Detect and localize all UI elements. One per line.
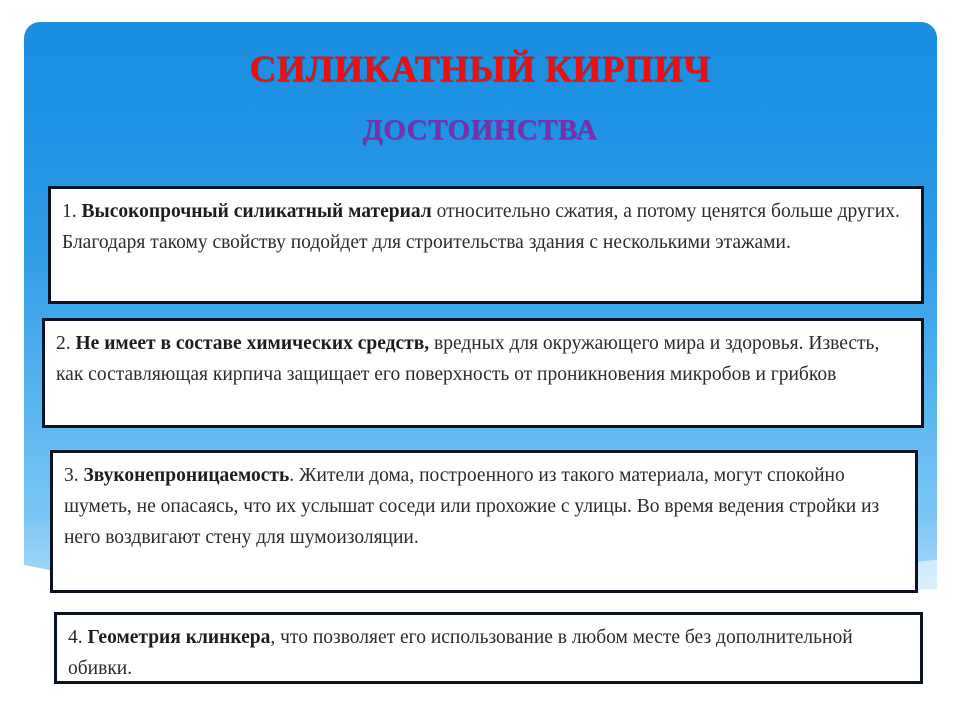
advantage-box-1: 1. Высокопрочный силикатный материал отн… [48,186,924,304]
slide-canvas: СИЛИКАТНЫЙ КИРПИЧ ДОСТОИНСТВА 1. Высокоп… [0,0,960,720]
advantage-number-1: 1. [62,201,77,222]
slide-subtitle: ДОСТОИНСТВА [0,114,960,147]
advantage-box-4: 4. Геометрия клинкера, что позволяет его… [54,612,923,684]
advantage-box-3: 3. Звуконепроницаемость. Жители дома, по… [50,450,918,593]
slide-title: СИЛИКАТНЫЙ КИРПИЧ [0,48,960,91]
advantage-lead-4: Геометрия клинкера [88,627,271,648]
advantage-number-3: 3. [64,465,79,486]
advantage-lead-3: Звуконепроницаемость [84,465,290,486]
advantage-lead-2: Не имеет в составе химических средств, [76,333,430,354]
advantage-lead-1: Высокопрочный силикатный материал [82,201,432,222]
advantage-text-1: 1. Высокопрочный силикатный материал отн… [62,196,910,258]
advantage-number-2: 2. [56,333,71,354]
advantage-text-2: 2. Не имеет в составе химических средств… [56,328,910,390]
advantage-number-4: 4. [68,627,83,648]
advantage-text-4: 4. Геометрия клинкера, что позволяет его… [68,622,909,684]
advantage-box-2: 2. Не имеет в составе химических средств… [42,318,924,428]
advantage-text-3: 3. Звуконепроницаемость. Жители дома, по… [64,460,904,553]
